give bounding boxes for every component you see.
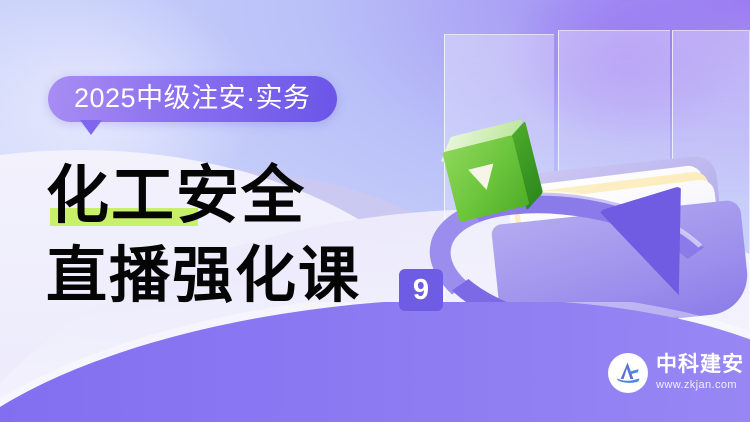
brand-logo-text: 中科建安 www.zkjan.com xyxy=(656,354,744,392)
category-badge: 2025中级注安·实务 xyxy=(48,76,337,122)
headline-line-1: 化工安全 xyxy=(46,160,466,232)
zkjan-circle-mark-icon xyxy=(608,353,648,393)
episode-number-badge: 9 xyxy=(399,269,443,311)
headline-row-1: 化工安全 xyxy=(46,160,466,232)
course-banner: 2025中级注安·实务 化工安全 直播强化课 9 中科建安 www.zkjan.… xyxy=(0,0,750,422)
brand-logo: 中科建安 www.zkjan.com xyxy=(608,353,744,393)
category-badge-tail xyxy=(80,120,102,135)
brand-name: 中科建安 xyxy=(656,354,744,377)
play-triangle-icon xyxy=(468,163,499,193)
brand-url: www.zkjan.com xyxy=(656,378,744,392)
